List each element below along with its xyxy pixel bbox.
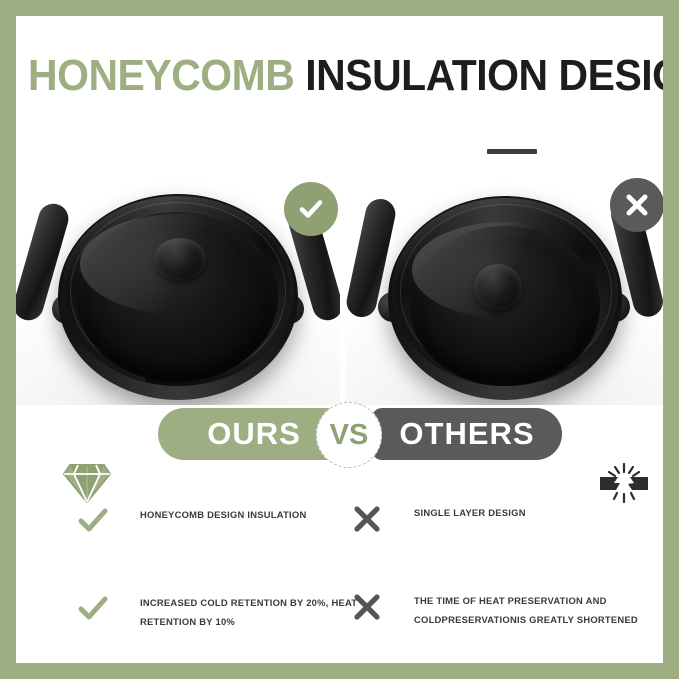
pot-illustration-others [356,192,652,400]
feature-list-others: SINGLE LAYER DESIGN THE TIME OF HEAT PRE… [350,502,650,650]
pot-illustration-ours [28,190,328,400]
feature-text: SINGLE LAYER DESIGN [414,504,642,523]
others-label: OTHERS [399,416,534,452]
dash-divider [487,149,537,154]
feature-text: THE TIME OF HEAT PRESERVATION AND COLDPR… [414,592,642,630]
x-icon [623,191,651,219]
check-icon [296,194,326,224]
x-icon [350,502,384,536]
feature-row: SINGLE LAYER DESIGN [350,502,650,562]
feature-text: HONEYCOMB DESIGN INSULATION [140,506,368,525]
versus-circle: VS [316,402,382,468]
label-pill-others: OTHERS [372,408,562,460]
pot-center-knob [474,264,522,310]
badge-x-others [610,178,663,232]
diamond-gem-icon [60,460,114,506]
content-area: HONEYCOMB INSULATION DESIGN [16,16,663,663]
feature-row: THE TIME OF HEAT PRESERVATION AND COLDPR… [350,590,650,650]
check-icon [76,504,110,538]
feature-text: INCREASED COLD RETENTION BY 20%, HEAT RE… [140,594,368,632]
page-frame: HONEYCOMB INSULATION DESIGN [0,0,679,679]
badge-check-ours [284,182,338,236]
pot-cap [154,238,206,280]
feature-row: INCREASED COLD RETENTION BY 20%, HEAT RE… [76,592,376,652]
title-highlight: HONEYCOMB [28,51,294,100]
feature-list-ours: HONEYCOMB DESIGN INSULATION INCREASED CO… [76,504,376,652]
versus-label: VS [330,419,369,452]
title-rest: INSULATION DESIGN [294,51,663,100]
feature-row: HONEYCOMB DESIGN INSULATION [76,504,376,564]
page-title: HONEYCOMB INSULATION DESIGN [28,52,614,100]
ours-label: OURS [207,416,301,452]
x-icon [350,590,384,624]
check-icon [76,592,110,626]
shatter-burst-icon [596,460,652,506]
